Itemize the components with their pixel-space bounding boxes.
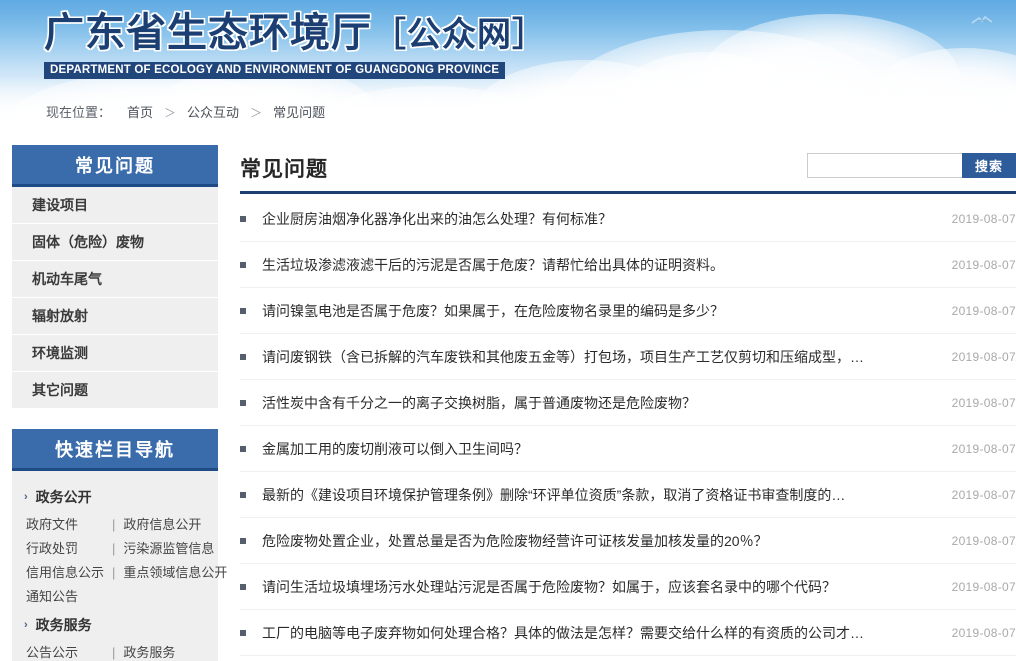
bullet-square-icon (240, 216, 262, 222)
quicknav-separator: | (112, 514, 115, 536)
search-input[interactable] (807, 153, 962, 178)
chevron-right-icon: › (24, 619, 28, 631)
bullet-square-icon (240, 492, 262, 498)
faq-list-item[interactable]: 金属加工用的废切削液可以倒入卫生间吗？ 2019-08-07 (240, 426, 1016, 472)
site-title-cn-text: 广东省生态环境厅 (44, 10, 372, 56)
sidebar-item-label: 辐射放射 (32, 306, 88, 326)
bullet-square-icon (240, 538, 262, 544)
quicknav-row: 信用信息公示 | 重点领域信息公开 (12, 561, 218, 585)
main-content: 常见问题 搜索 企业厨房油烟净化器净化出来的油怎么处理？有何标准？ 2019-0… (218, 140, 1016, 656)
faq-list-item[interactable]: 请问废钢铁（含已拆解的汽车废铁和其他废五金等）打包场，项目生产工艺仅剪切和压缩成… (240, 334, 1016, 380)
quicknav-link-notice-announcement[interactable]: 通知公告 (26, 586, 112, 608)
quicknav-separator: | (112, 642, 115, 661)
sidebar-item-label: 建设项目 (32, 195, 88, 215)
bullet-square-icon (240, 308, 262, 314)
faq-list: 企业厨房油烟净化器净化出来的油怎么处理？有何标准？ 2019-08-07 生活垃… (240, 194, 1016, 656)
faq-item-date: 2019-08-07 (930, 580, 1016, 594)
quick-navigation-title: 快速栏目导航 (12, 429, 218, 471)
site-title-cn: 广东省生态环境厅［公众网］ (44, 8, 547, 60)
quicknav-link-government-info-disclosure[interactable]: 政府信息公开 (123, 514, 201, 536)
sidebar-item-radiation[interactable]: 辐射放射 (12, 298, 218, 335)
breadcrumb: 现在位置：首页＞公众互动＞常见问题 (46, 102, 327, 121)
bullet-square-icon (240, 584, 262, 590)
faq-item-date: 2019-08-07 (930, 304, 1016, 318)
search-box: 搜索 (807, 153, 1016, 178)
breadcrumb-item-faq: 常见问题 (273, 105, 325, 120)
quick-navigation-body: › 政务公开 政府文件 | 政府信息公开 行政处罚 | 污染源监管信息 信用信息… (12, 471, 218, 661)
faq-item-date: 2019-08-07 (930, 626, 1016, 640)
quicknav-row: 行政处罚 | 污染源监管信息 (12, 537, 218, 561)
breadcrumb-item-home[interactable]: 首页 (127, 105, 153, 120)
faq-item-title: 活性炭中含有千分之一的离子交换树脂，属于普通废物还是危险废物？ (262, 393, 930, 413)
faq-item-title: 最新的《建设项目环境保护管理条例》删除“环评单位资质”条款，取消了资格证书审查制… (262, 485, 930, 505)
faq-item-title: 请问生活垃圾填埋场污水处理站污泥是否属于危险废物？如属于，应该套名录中的哪个代码… (262, 577, 930, 597)
faq-list-item[interactable]: 最新的《建设项目环境保护管理条例》删除“环评单位资质”条款，取消了资格证书审查制… (240, 472, 1016, 518)
breadcrumb-label: 现在位置： (46, 105, 111, 120)
faq-list-item[interactable]: 工厂的电脑等电子废弃物如何处理合格？具体的做法是怎样？需要交给什么样的有资质的公… (240, 610, 1016, 656)
breadcrumb-separator: ＞ (250, 106, 262, 120)
sidebar-item-vehicle-exhaust[interactable]: 机动车尾气 (12, 261, 218, 298)
quicknav-link-pollution-source-supervision[interactable]: 污染源监管信息 (123, 538, 214, 560)
breadcrumb-separator: ＞ (164, 106, 176, 120)
sidebar-item-solid-hazardous-waste[interactable]: 固体（危险）废物 (12, 224, 218, 261)
breadcrumb-item-public-interaction[interactable]: 公众互动 (187, 105, 239, 120)
sidebar-item-label: 其它问题 (32, 380, 88, 400)
faq-list-item[interactable]: 危险废物处置企业，处置总量是否为危险废物经营许可证核发量加核发量的20％？ 20… (240, 518, 1016, 564)
faq-item-date: 2019-08-07 (930, 212, 1016, 226)
faq-list-item[interactable]: 请问镍氢电池是否属于危废？如果属于，在危险废物名录里的编码是多少？ 2019-0… (240, 288, 1016, 334)
faq-item-title: 请问废钢铁（含已拆解的汽车废铁和其他废五金等）打包场，项目生产工艺仅剪切和压缩成… (262, 347, 930, 367)
quicknav-row: 公告公示 | 政务服务 (12, 641, 218, 661)
sidebar-item-construction-projects[interactable]: 建设项目 (12, 187, 218, 224)
quicknav-group-government-services[interactable]: › 政务服务 (12, 609, 218, 641)
quicknav-separator: | (112, 538, 115, 560)
quicknav-link-key-area-info-disclosure[interactable]: 重点领域信息公开 (123, 562, 227, 584)
faq-list-item[interactable]: 请问生活垃圾填埋场污水处理站污泥是否属于危险废物？如属于，应该套名录中的哪个代码… (240, 564, 1016, 610)
bullet-square-icon (240, 630, 262, 636)
faq-list-item[interactable]: 生活垃圾渗滤液滤干后的污泥是否属于危废？请帮忙给出具体的证明资料。 2019-0… (240, 242, 1016, 288)
bird-icon (971, 14, 993, 30)
sidebar-item-label: 环境监测 (32, 343, 88, 363)
faq-item-date: 2019-08-07 (930, 488, 1016, 502)
faq-item-date: 2019-08-07 (930, 350, 1016, 364)
sidebar-item-label: 固体（危险）废物 (32, 232, 144, 252)
quicknav-group-label: 政务公开 (36, 487, 92, 507)
page-title: 常见问题 (240, 153, 328, 183)
faq-item-title: 生活垃圾渗滤液滤干后的污泥是否属于危废？请帮忙给出具体的证明资料。 (262, 255, 930, 275)
quicknav-link-government-services[interactable]: 政务服务 (123, 642, 175, 661)
faq-item-title: 工厂的电脑等电子废弃物如何处理合格？具体的做法是怎样？需要交给什么样的有资质的公… (262, 623, 930, 643)
quicknav-separator: | (112, 562, 115, 584)
faq-item-date: 2019-08-07 (930, 534, 1016, 548)
page-body: 常见问题 建设项目 固体（危险）废物 机动车尾气 辐射放射 环境监测 其它问题 … (0, 140, 1016, 661)
faq-list-item[interactable]: 活性炭中含有千分之一的离子交换树脂，属于普通废物还是危险废物？ 2019-08-… (240, 380, 1016, 426)
quicknav-row: 政府文件 | 政府信息公开 (12, 513, 218, 537)
faq-item-title: 请问镍氢电池是否属于危废？如果属于，在危险废物名录里的编码是多少？ (262, 301, 930, 321)
bullet-square-icon (240, 354, 262, 360)
quicknav-link-announcement-publicity[interactable]: 公告公示 (26, 642, 112, 661)
sidebar: 常见问题 建设项目 固体（危险）废物 机动车尾气 辐射放射 环境监测 其它问题 … (0, 140, 218, 661)
quick-navigation-panel: 快速栏目导航 › 政务公开 政府文件 | 政府信息公开 行政处罚 | 污染源监管… (12, 429, 218, 661)
sidebar-panel-title: 常见问题 (12, 145, 218, 187)
quicknav-link-administrative-penalty[interactable]: 行政处罚 (26, 538, 112, 560)
site-title-bracket: ［公众网］ (372, 15, 547, 55)
site-header-banner: 广东省生态环境厅［公众网］ DEPARTMENT OF ECOLOGY AND … (0, 0, 1016, 140)
faq-item-date: 2019-08-07 (930, 258, 1016, 272)
site-logo[interactable]: 广东省生态环境厅［公众网］ DEPARTMENT OF ECOLOGY AND … (44, 8, 547, 79)
site-title-en: DEPARTMENT OF ECOLOGY AND ENVIRONMENT OF… (44, 62, 505, 79)
faq-item-title: 企业厨房油烟净化器净化出来的油怎么处理？有何标准？ (262, 209, 930, 229)
bullet-square-icon (240, 262, 262, 268)
main-header: 常见问题 搜索 (240, 145, 1016, 191)
sidebar-item-label: 机动车尾气 (32, 269, 102, 289)
sidebar-item-other-questions[interactable]: 其它问题 (12, 372, 218, 409)
quicknav-link-government-documents[interactable]: 政府文件 (26, 514, 112, 536)
quicknav-link-credit-info-publicity[interactable]: 信用信息公示 (26, 562, 112, 584)
quicknav-group-label: 政务服务 (36, 615, 92, 635)
bullet-square-icon (240, 446, 262, 452)
faq-item-title: 金属加工用的废切削液可以倒入卫生间吗？ (262, 439, 930, 459)
sidebar-menu: 建设项目 固体（危险）废物 机动车尾气 辐射放射 环境监测 其它问题 (12, 187, 218, 409)
faq-list-item[interactable]: 企业厨房油烟净化器净化出来的油怎么处理？有何标准？ 2019-08-07 (240, 196, 1016, 242)
faq-item-title: 危险废物处置企业，处置总量是否为危险废物经营许可证核发量加核发量的20％？ (262, 531, 930, 551)
bullet-square-icon (240, 400, 262, 406)
search-button[interactable]: 搜索 (962, 153, 1016, 178)
faq-item-date: 2019-08-07 (930, 442, 1016, 456)
quicknav-row: 通知公告 (12, 585, 218, 609)
chevron-right-icon: › (24, 491, 28, 503)
faq-item-date: 2019-08-07 (930, 396, 1016, 410)
sidebar-item-environmental-monitoring[interactable]: 环境监测 (12, 335, 218, 372)
quicknav-group-government-affairs-disclosure[interactable]: › 政务公开 (12, 481, 218, 513)
